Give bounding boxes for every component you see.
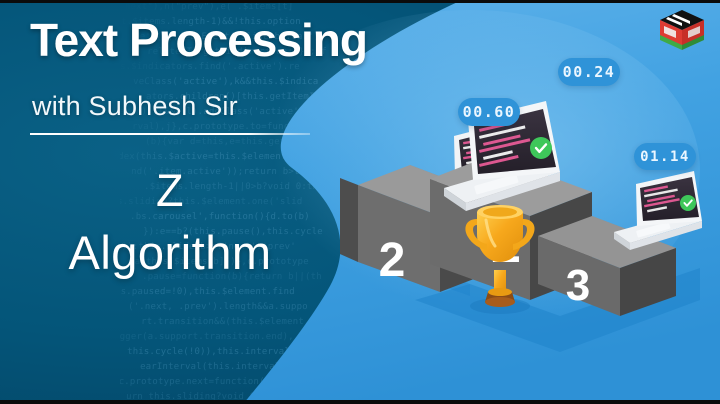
status-check-icon-3 (680, 195, 696, 211)
timer-badge-right: 01.14 (634, 143, 696, 170)
letterbox-bottom (0, 400, 720, 404)
page-subtitle: with Subhesh Sir (32, 90, 238, 122)
topic-heading: Z Algorithm (0, 160, 340, 284)
tutorialspoint-cube-logo (658, 8, 706, 52)
letterbox-top (0, 0, 720, 3)
laptop-podium-3 (614, 171, 702, 250)
timer-badge-center: 00.24 (558, 58, 620, 86)
status-check-icon-1 (530, 137, 552, 159)
timer-badge-left: 00.60 (458, 98, 520, 126)
topic-line-2: Algorithm (0, 222, 340, 284)
page-title: Text Processing (30, 14, 367, 66)
title-divider (30, 133, 310, 135)
topic-line-1: Z (0, 160, 340, 222)
podium-rank-3: 3 (566, 261, 590, 310)
video-title-card: n("next"),n("prev"),e( .$items[t]t.$item… (0, 0, 720, 404)
podium-rank-2: 2 (379, 234, 406, 287)
